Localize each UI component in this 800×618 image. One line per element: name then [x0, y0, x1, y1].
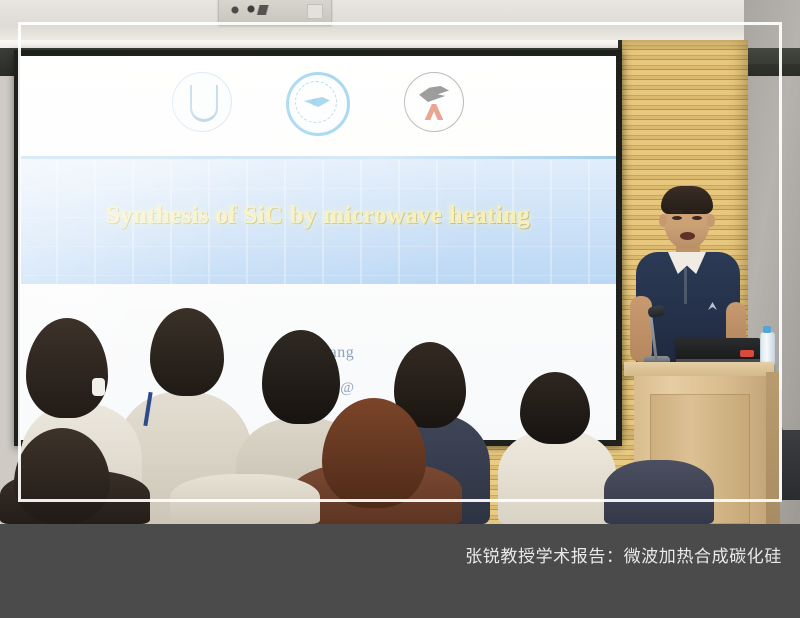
- presenter-right-brow: [690, 210, 703, 213]
- slide-title: Synthesis of SiC by microwave heating: [20, 202, 616, 230]
- university-seal-logo-1-icon: [172, 72, 232, 132]
- presenter-left-eye: [672, 216, 682, 220]
- caption-text: 张锐教授学术报告：微波加热合成碳化硅: [465, 542, 782, 567]
- audience-body: [604, 460, 714, 524]
- caption-bar: 张锐教授学术报告：微波加热合成碳化硅: [0, 524, 800, 618]
- presenter-placket: [684, 268, 687, 304]
- screenshot-root: Synthesis of SiC by microwave heating Ru…: [0, 0, 800, 618]
- laptop: [676, 338, 760, 362]
- presenter-hair: [661, 186, 713, 214]
- slide-logo-row: [20, 72, 616, 136]
- lectern-side-panel: [766, 372, 780, 524]
- presenter-left-arm: [630, 296, 652, 362]
- ceiling: [0, 0, 800, 44]
- laptop-badge-icon: [740, 350, 754, 357]
- slide-band-top-rule: [20, 156, 616, 159]
- presenter-left-ear: [659, 214, 667, 227]
- audience-body: [170, 474, 320, 524]
- presenter-left-brow: [670, 210, 683, 213]
- presenter-mouth: [680, 232, 695, 240]
- ceiling-projector-icon: [218, 0, 332, 25]
- hair-clip-icon: [92, 378, 105, 396]
- cable: [780, 390, 792, 434]
- lectern-top: [624, 362, 774, 376]
- photograph: Synthesis of SiC by microwave heating Ru…: [0, 0, 800, 524]
- av-equipment: [782, 430, 800, 500]
- university-seal-logo-2-icon: [286, 72, 350, 136]
- water-bottle: [760, 332, 775, 366]
- audience-body: [498, 430, 616, 524]
- university-seal-logo-3-icon: [404, 72, 464, 132]
- presenter-right-ear: [707, 214, 715, 227]
- presenter-right-eye: [692, 216, 702, 220]
- water-bottle-cap: [763, 326, 771, 333]
